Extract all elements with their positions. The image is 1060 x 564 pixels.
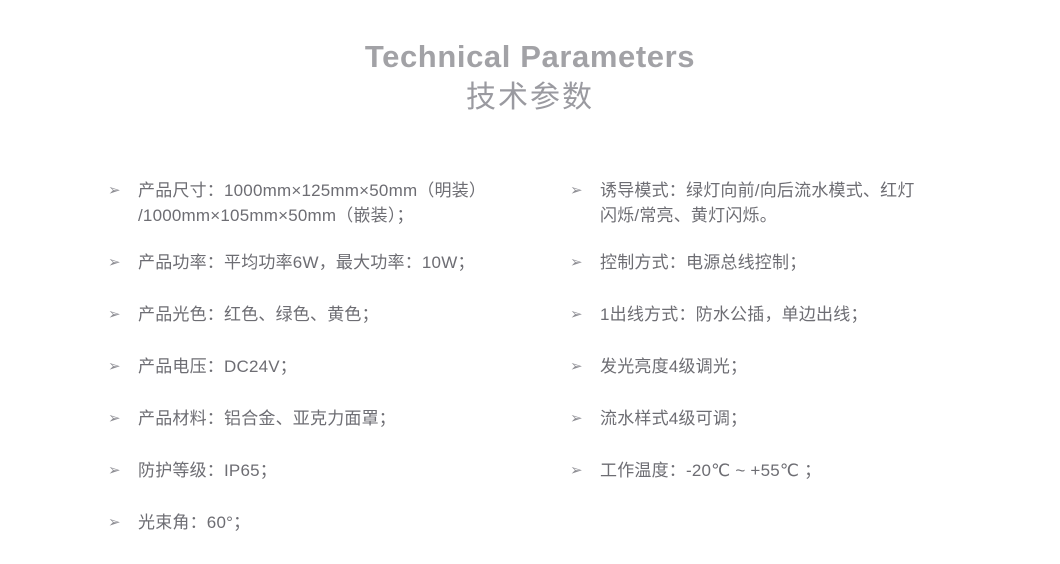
spec-item-text: 流水样式4级可调； [600,406,970,431]
spec-item-text: 工作温度：-20℃ ~ +55℃ ； [600,458,970,483]
spec-column-left: ➢产品尺寸：1000mm×125mm×50mm（明装）/1000mm×105mm… [108,178,538,535]
spec-item-text: 1出线方式：防水公插，单边出线； [600,302,970,327]
spec-item-line: 工作温度：-20℃ ~ +55℃ ； [600,458,970,483]
spec-item-text: 产品光色：红色、绿色、黄色； [138,302,538,327]
spec-item-text: 发光亮度4级调光； [600,354,970,379]
spec-item-text: 控制方式：电源总线控制； [600,250,970,275]
spec-list-item: ➢诱导模式：绿灯向前/向后流水模式、红灯闪烁/常亮、黄灯闪烁。 [570,178,970,228]
spec-list-item: ➢产品电压：DC24V； [108,354,538,379]
arrow-bullet-icon: ➢ [570,178,592,203]
technical-parameters-page: Technical Parameters 技术参数 ➢产品尺寸：1000mm×1… [0,0,1060,564]
spec-list-item: ➢产品尺寸：1000mm×125mm×50mm（明装）/1000mm×105mm… [108,178,538,228]
spec-item-text: 产品功率：平均功率6W，最大功率：10W； [138,250,538,275]
spec-list-item: ➢产品功率：平均功率6W，最大功率：10W； [108,250,538,275]
spec-item-text: 产品尺寸：1000mm×125mm×50mm（明装）/1000mm×105mm×… [138,178,538,228]
spec-item-line: 产品电压：DC24V； [138,354,538,379]
spec-list-item: ➢流水样式4级可调； [570,406,970,431]
spec-item-line: 防护等级：IP65； [138,458,538,483]
spec-item-text: 诱导模式：绿灯向前/向后流水模式、红灯闪烁/常亮、黄灯闪烁。 [600,178,970,228]
spec-list-item: ➢1出线方式：防水公插，单边出线； [570,302,970,327]
arrow-bullet-icon: ➢ [108,354,130,379]
arrow-bullet-icon: ➢ [108,178,130,203]
spec-list-item: ➢产品材料：铝合金、亚克力面罩； [108,406,538,431]
spec-item-text: 光束角：60°； [138,510,538,535]
spec-item-line: 控制方式：电源总线控制； [600,250,970,275]
arrow-bullet-icon: ➢ [108,250,130,275]
spec-list-item: ➢发光亮度4级调光； [570,354,970,379]
spec-item-line: /1000mm×105mm×50mm（嵌装）； [138,203,538,228]
spec-item-text: 产品材料：铝合金、亚克力面罩； [138,406,538,431]
page-title-english: Technical Parameters [0,38,1060,76]
spec-item-text: 防护等级：IP65； [138,458,538,483]
spec-column-right: ➢诱导模式：绿灯向前/向后流水模式、红灯闪烁/常亮、黄灯闪烁。➢控制方式：电源总… [570,178,970,483]
spec-item-line: 产品功率：平均功率6W，最大功率：10W； [138,250,538,275]
arrow-bullet-icon: ➢ [108,406,130,431]
arrow-bullet-icon: ➢ [570,458,592,483]
spec-item-line: 闪烁/常亮、黄灯闪烁。 [600,203,970,228]
spec-list-item: ➢工作温度：-20℃ ~ +55℃ ； [570,458,970,483]
spec-item-line: 产品光色：红色、绿色、黄色； [138,302,538,327]
spec-item-text: 产品电压：DC24V； [138,354,538,379]
spec-item-line: 光束角：60°； [138,510,538,535]
page-title-chinese: 技术参数 [0,78,1060,118]
spec-list-item: ➢光束角：60°； [108,510,538,535]
spec-item-line: 流水样式4级可调； [600,406,970,431]
arrow-bullet-icon: ➢ [570,354,592,379]
arrow-bullet-icon: ➢ [570,302,592,327]
page-heading: Technical Parameters 技术参数 [0,38,1060,118]
spec-list-item: ➢控制方式：电源总线控制； [570,250,970,275]
spec-columns: ➢产品尺寸：1000mm×125mm×50mm（明装）/1000mm×105mm… [0,178,1060,538]
spec-list-item: ➢产品光色：红色、绿色、黄色； [108,302,538,327]
arrow-bullet-icon: ➢ [108,302,130,327]
spec-item-line: 产品尺寸：1000mm×125mm×50mm（明装） [138,178,538,203]
spec-item-line: 诱导模式：绿灯向前/向后流水模式、红灯 [600,178,970,203]
arrow-bullet-icon: ➢ [570,406,592,431]
arrow-bullet-icon: ➢ [570,250,592,275]
spec-item-line: 发光亮度4级调光； [600,354,970,379]
spec-list-item: ➢防护等级：IP65； [108,458,538,483]
spec-item-line: 产品材料：铝合金、亚克力面罩； [138,406,538,431]
arrow-bullet-icon: ➢ [108,510,130,535]
arrow-bullet-icon: ➢ [108,458,130,483]
spec-item-line: 1出线方式：防水公插，单边出线； [600,302,970,327]
